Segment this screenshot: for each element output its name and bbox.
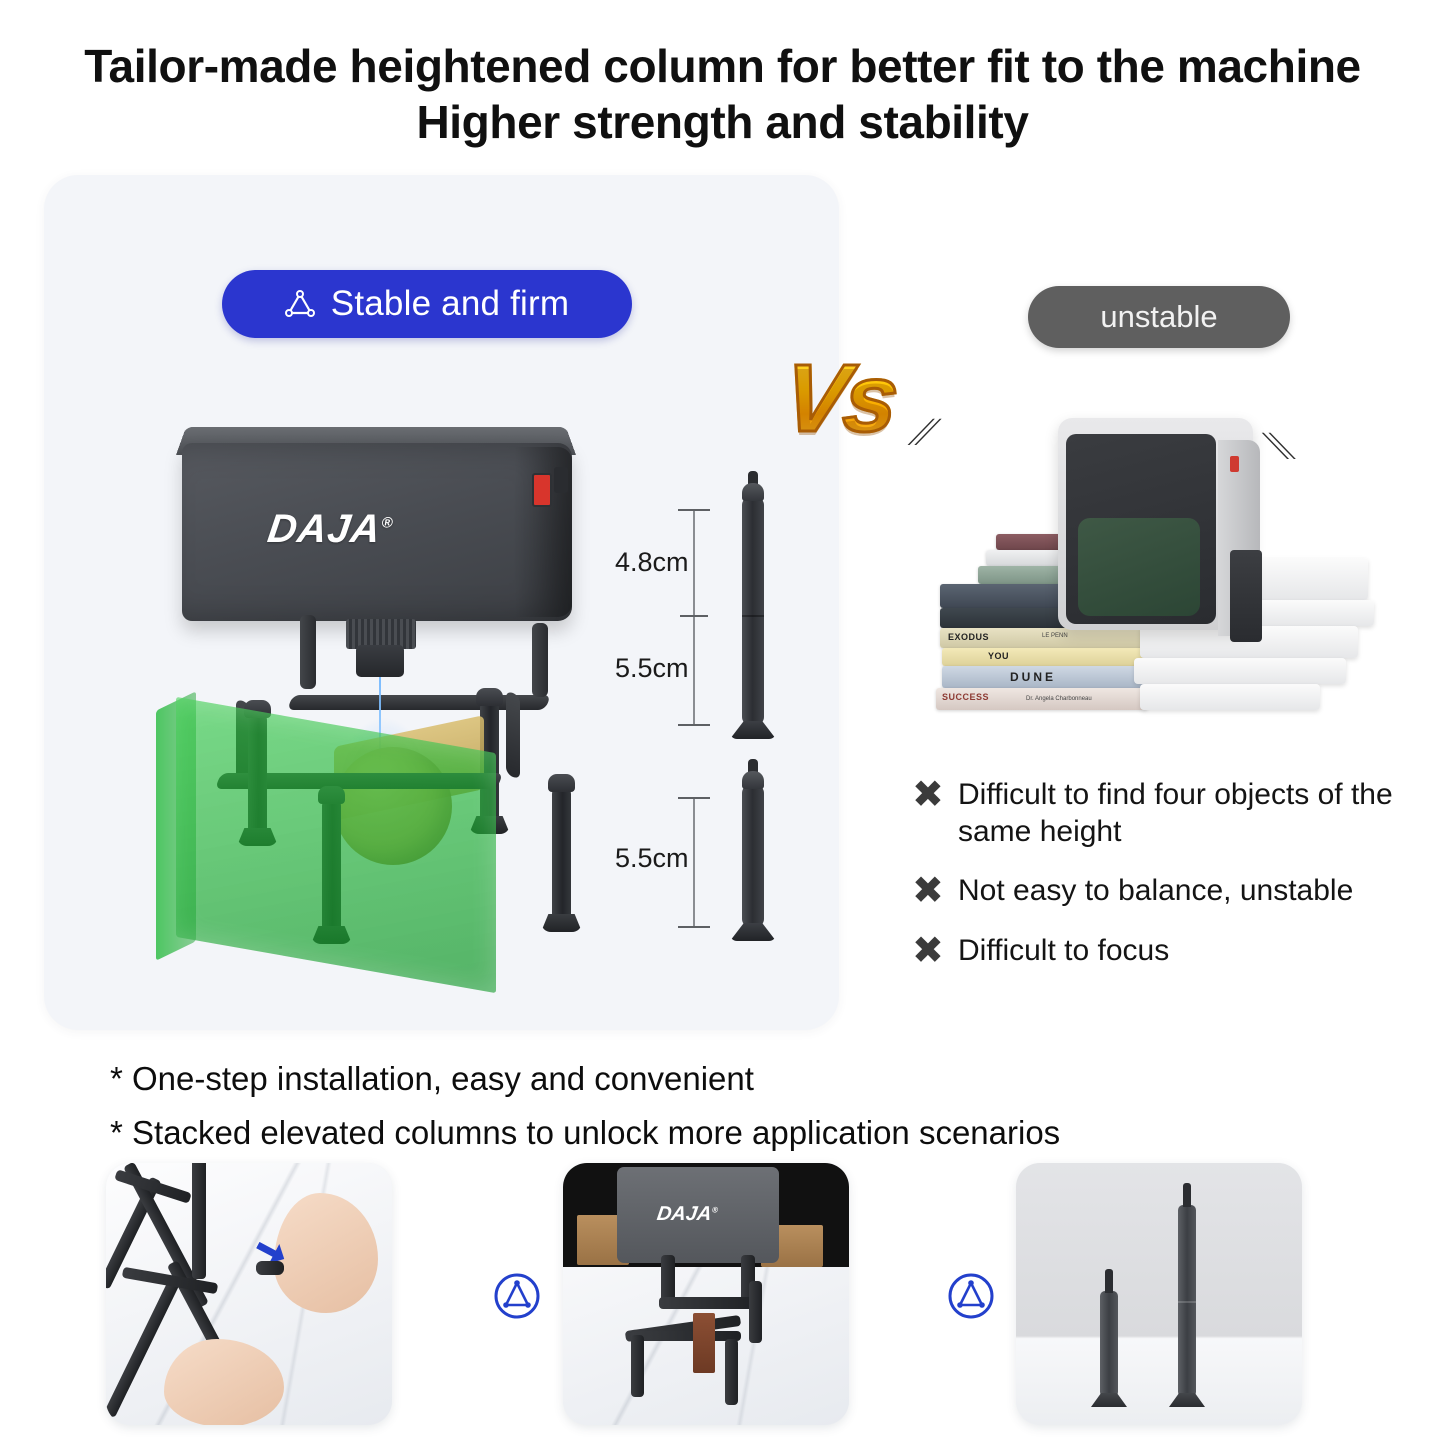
column-cap <box>742 771 764 789</box>
column-seam <box>1178 1301 1196 1303</box>
book-title-exodus: EXODUS <box>948 632 989 642</box>
product-infographic: Tailor-made heightened column for better… <box>0 0 1445 1445</box>
short-column <box>742 785 764 927</box>
support-frame <box>659 1297 759 1309</box>
tick-bottom <box>678 724 710 726</box>
column-pin <box>1105 1269 1113 1293</box>
circled-triangle-icon-2 <box>946 1271 996 1321</box>
tick-top-short <box>678 797 710 799</box>
support-frame <box>631 1331 741 1341</box>
tick-middle <box>680 615 708 617</box>
list-item: ✖ Difficult to focus <box>912 932 1412 970</box>
page-title: Tailor-made heightened column for better… <box>0 38 1445 150</box>
headline-line-1: Tailor-made heightened column for better… <box>84 40 1360 92</box>
features-list: * One-step installation, easy and conven… <box>110 1056 1110 1164</box>
tall-column <box>742 497 764 725</box>
feature-line: * Stacked elevated columns to unlock mor… <box>110 1110 1110 1156</box>
tall-column-photo <box>1178 1205 1196 1397</box>
column-pin <box>1183 1183 1191 1207</box>
tick-bottom-short <box>678 926 710 928</box>
short-dimension-line <box>693 797 695 927</box>
support-leg-front-right <box>552 787 571 921</box>
paper-stack <box>1134 658 1346 684</box>
column-part <box>256 1261 284 1275</box>
column-seam <box>742 615 764 617</box>
unstable-badge: unstable <box>1028 286 1290 348</box>
unstable-badge-label: unstable <box>1100 299 1217 335</box>
short-column-photo <box>1100 1291 1118 1397</box>
photo-background <box>1016 1163 1302 1425</box>
circled-triangle-icon-1 <box>492 1271 542 1321</box>
support-leg <box>631 1335 644 1397</box>
drawbacks-list: ✖ Difficult to find four objects of the … <box>912 776 1412 992</box>
cross-icon: ✖ <box>912 872 958 910</box>
feature-line: * One-step installation, easy and conven… <box>110 1056 1110 1102</box>
book-author-2: Dr. Angela Charbonneau <box>1026 696 1092 702</box>
photo-panel-row: DAJA® <box>0 1163 1445 1431</box>
tall-dimension-line <box>693 509 695 725</box>
column-foot <box>730 923 776 941</box>
wobble-lines-left-icon: ⁄⁄ <box>912 408 937 455</box>
book-title-dune: DUNE <box>1010 670 1056 684</box>
dimension-label-lower: 5.5cm <box>615 653 689 684</box>
drawback-text: Not easy to balance, unstable <box>958 872 1353 909</box>
headline-line-2: Higher strength and stability <box>0 94 1445 150</box>
daja-machine: DAJA® <box>617 1167 779 1263</box>
frame-side-right <box>532 623 548 697</box>
book-title-you: YOU <box>988 651 1009 661</box>
daja-logo: DAJA® <box>265 507 396 552</box>
wobble-lines-right-icon: ⁄⁄ <box>1266 422 1291 469</box>
book-author: LE PENN <box>1042 633 1068 639</box>
installation-photo-panel <box>106 1163 392 1425</box>
daja-logo: DAJA® <box>655 1203 719 1226</box>
stable-badge: Stable and firm <box>222 270 632 338</box>
drawback-text: Difficult to find four objects of the sa… <box>958 776 1412 850</box>
cross-icon: ✖ <box>912 776 958 814</box>
triangle-stability-icon <box>285 290 315 318</box>
support-leg <box>749 1281 762 1343</box>
list-item: ✖ Not easy to balance, unstable <box>912 872 1412 910</box>
columns-comparison-photo-panel <box>1016 1163 1302 1425</box>
tick-top <box>678 509 710 511</box>
book-title-success: SUCCESS <box>942 692 989 702</box>
list-item: ✖ Difficult to find four objects of the … <box>912 776 1412 850</box>
daja-engraver-illustration: DAJA® <box>150 395 620 1015</box>
frame-rail-right <box>506 690 520 780</box>
laser-lens <box>356 645 404 677</box>
drawback-text: Difficult to focus <box>958 932 1169 969</box>
mounted-machine-photo-panel: DAJA® <box>563 1163 849 1425</box>
unstable-machine-window <box>1078 518 1200 616</box>
unstable-machine-foot <box>1230 550 1262 642</box>
cross-icon: ✖ <box>912 932 958 970</box>
dimension-label-upper: 4.8cm <box>615 547 689 578</box>
column-dimension-diagram: 4.8cm 5.5cm 5.5cm <box>620 485 810 955</box>
column-foot <box>730 721 776 739</box>
book <box>942 648 1144 666</box>
dimension-label-short: 5.5cm <box>615 843 689 874</box>
power-switch-icon <box>532 473 552 507</box>
port-icon <box>554 467 568 493</box>
support-leg <box>725 1339 738 1405</box>
frame-side-left <box>300 615 316 689</box>
paper-stack <box>1140 684 1320 710</box>
column-cap <box>742 483 764 501</box>
power-switch-icon <box>1230 456 1239 472</box>
frame-bar <box>192 1163 206 1279</box>
wood-workpiece <box>693 1313 715 1373</box>
unstable-setup-illustration: ⁄⁄ ⁄⁄ THE LAST DETECTIVE EXODUS LE PENN … <box>900 400 1390 730</box>
stable-badge-label: Stable and firm <box>331 284 569 324</box>
